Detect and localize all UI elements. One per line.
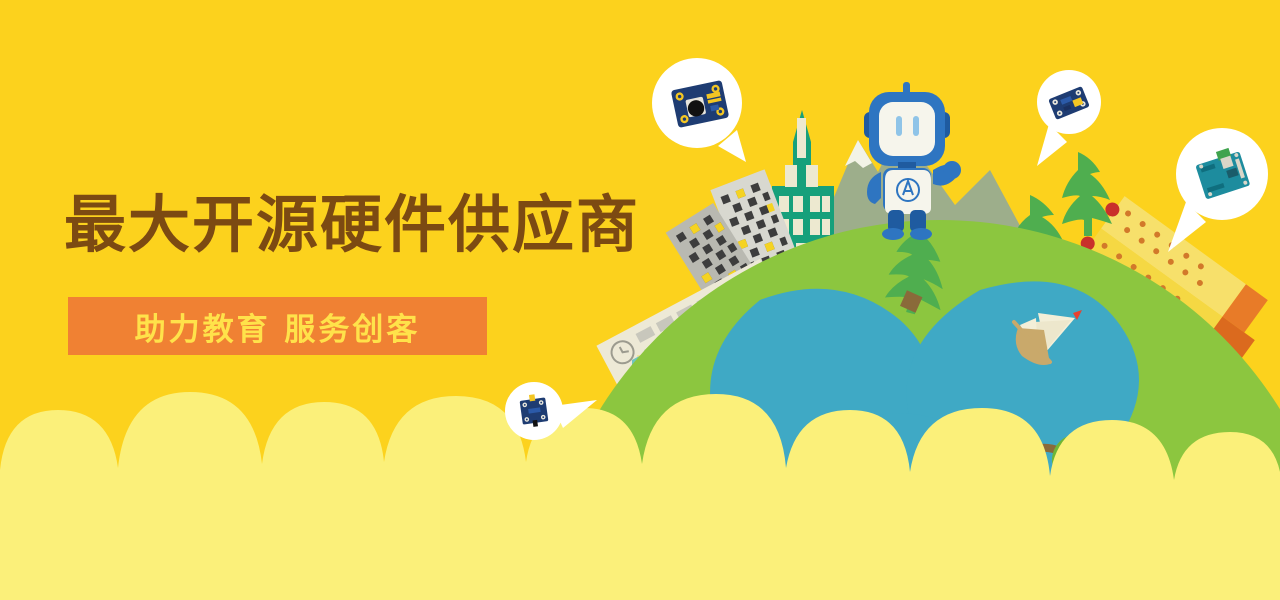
banner-tagline-box: 助力教育 服务创客 <box>68 297 487 355</box>
bubble-button-module <box>652 58 742 148</box>
arduino-uno-board-icon <box>1189 142 1255 208</box>
banner-headline: 最大开源硬件供应商 <box>64 192 640 257</box>
bubble-arduino-uno <box>1176 128 1268 220</box>
button-sensor-module-icon <box>666 70 734 138</box>
sensor-module-icon <box>1044 78 1094 128</box>
banner-tagline: 助力教育 服务创客 <box>135 304 421 349</box>
banner-copy: 最大开源硬件供应商 助力教育 服务创客 <box>0 0 640 600</box>
hero-banner: 最大开源硬件供应商 助力教育 服务创客 <box>0 0 1280 600</box>
bubble-small-module-top-right <box>1037 70 1101 134</box>
